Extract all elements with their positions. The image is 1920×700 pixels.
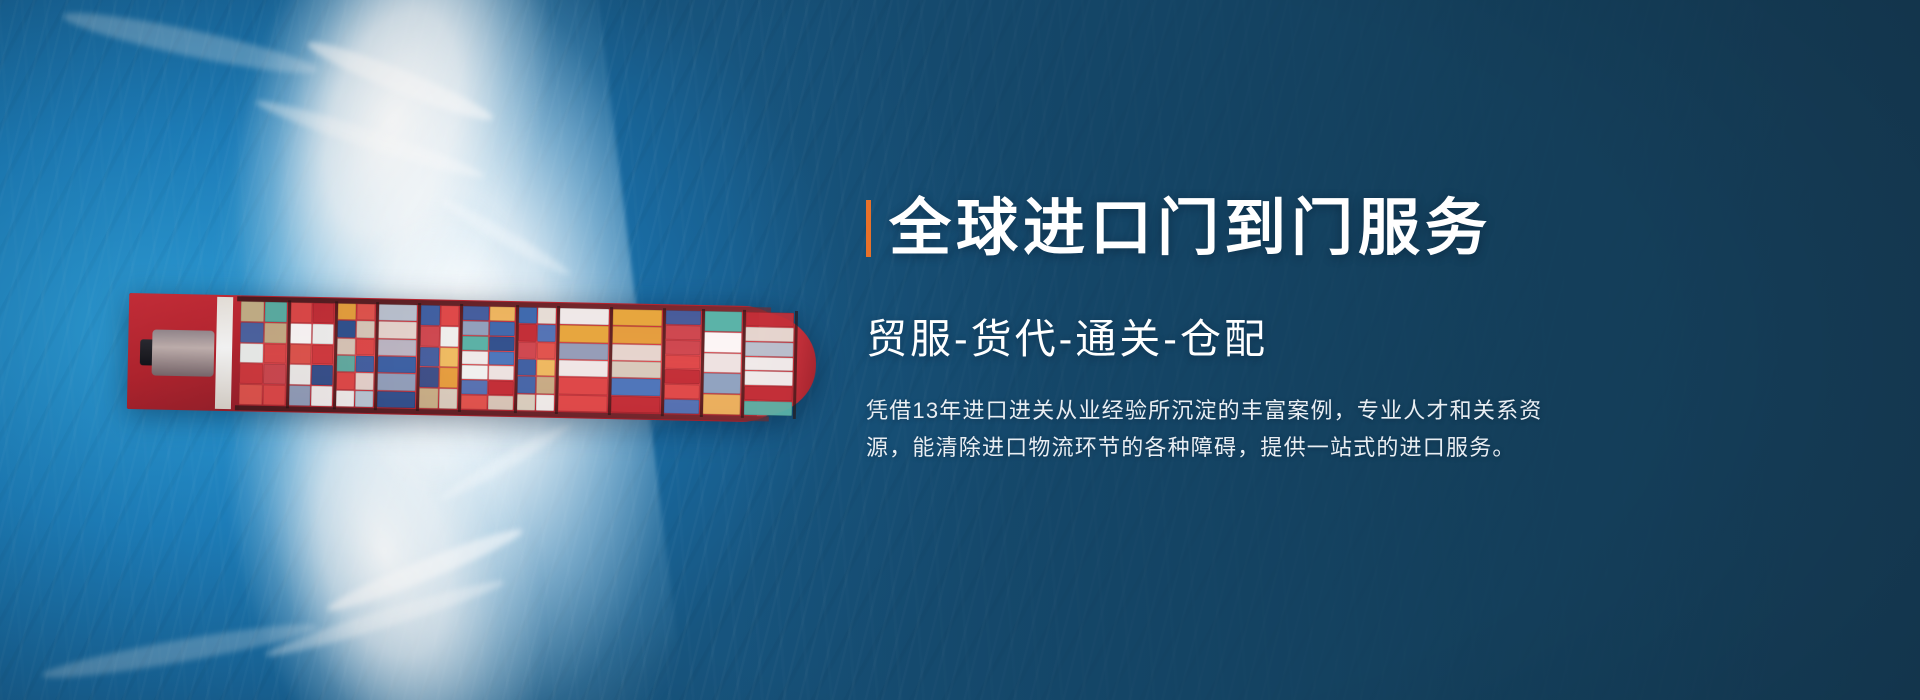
banner-headline: 全球进口门到门服务 <box>889 196 1492 263</box>
banner-content: 全球进口门到门服务 贸服-货代-通关-仓配 凭借13年进口进关从业经验所沉淀的丰… <box>866 196 1786 467</box>
banner-description: 凭借13年进口进关从业经验所沉淀的丰富案例，专业人才和关系资源，能清除进口物流环… <box>866 393 1572 467</box>
hero-banner: 全球进口门到门服务 贸服-货代-通关-仓配 凭借13年进口进关从业经验所沉淀的丰… <box>0 0 1920 700</box>
banner-subtitle: 贸服-货代-通关-仓配 <box>866 305 1786 365</box>
accent-bar <box>866 200 871 257</box>
headline-row: 全球进口门到门服务 <box>866 196 1786 263</box>
